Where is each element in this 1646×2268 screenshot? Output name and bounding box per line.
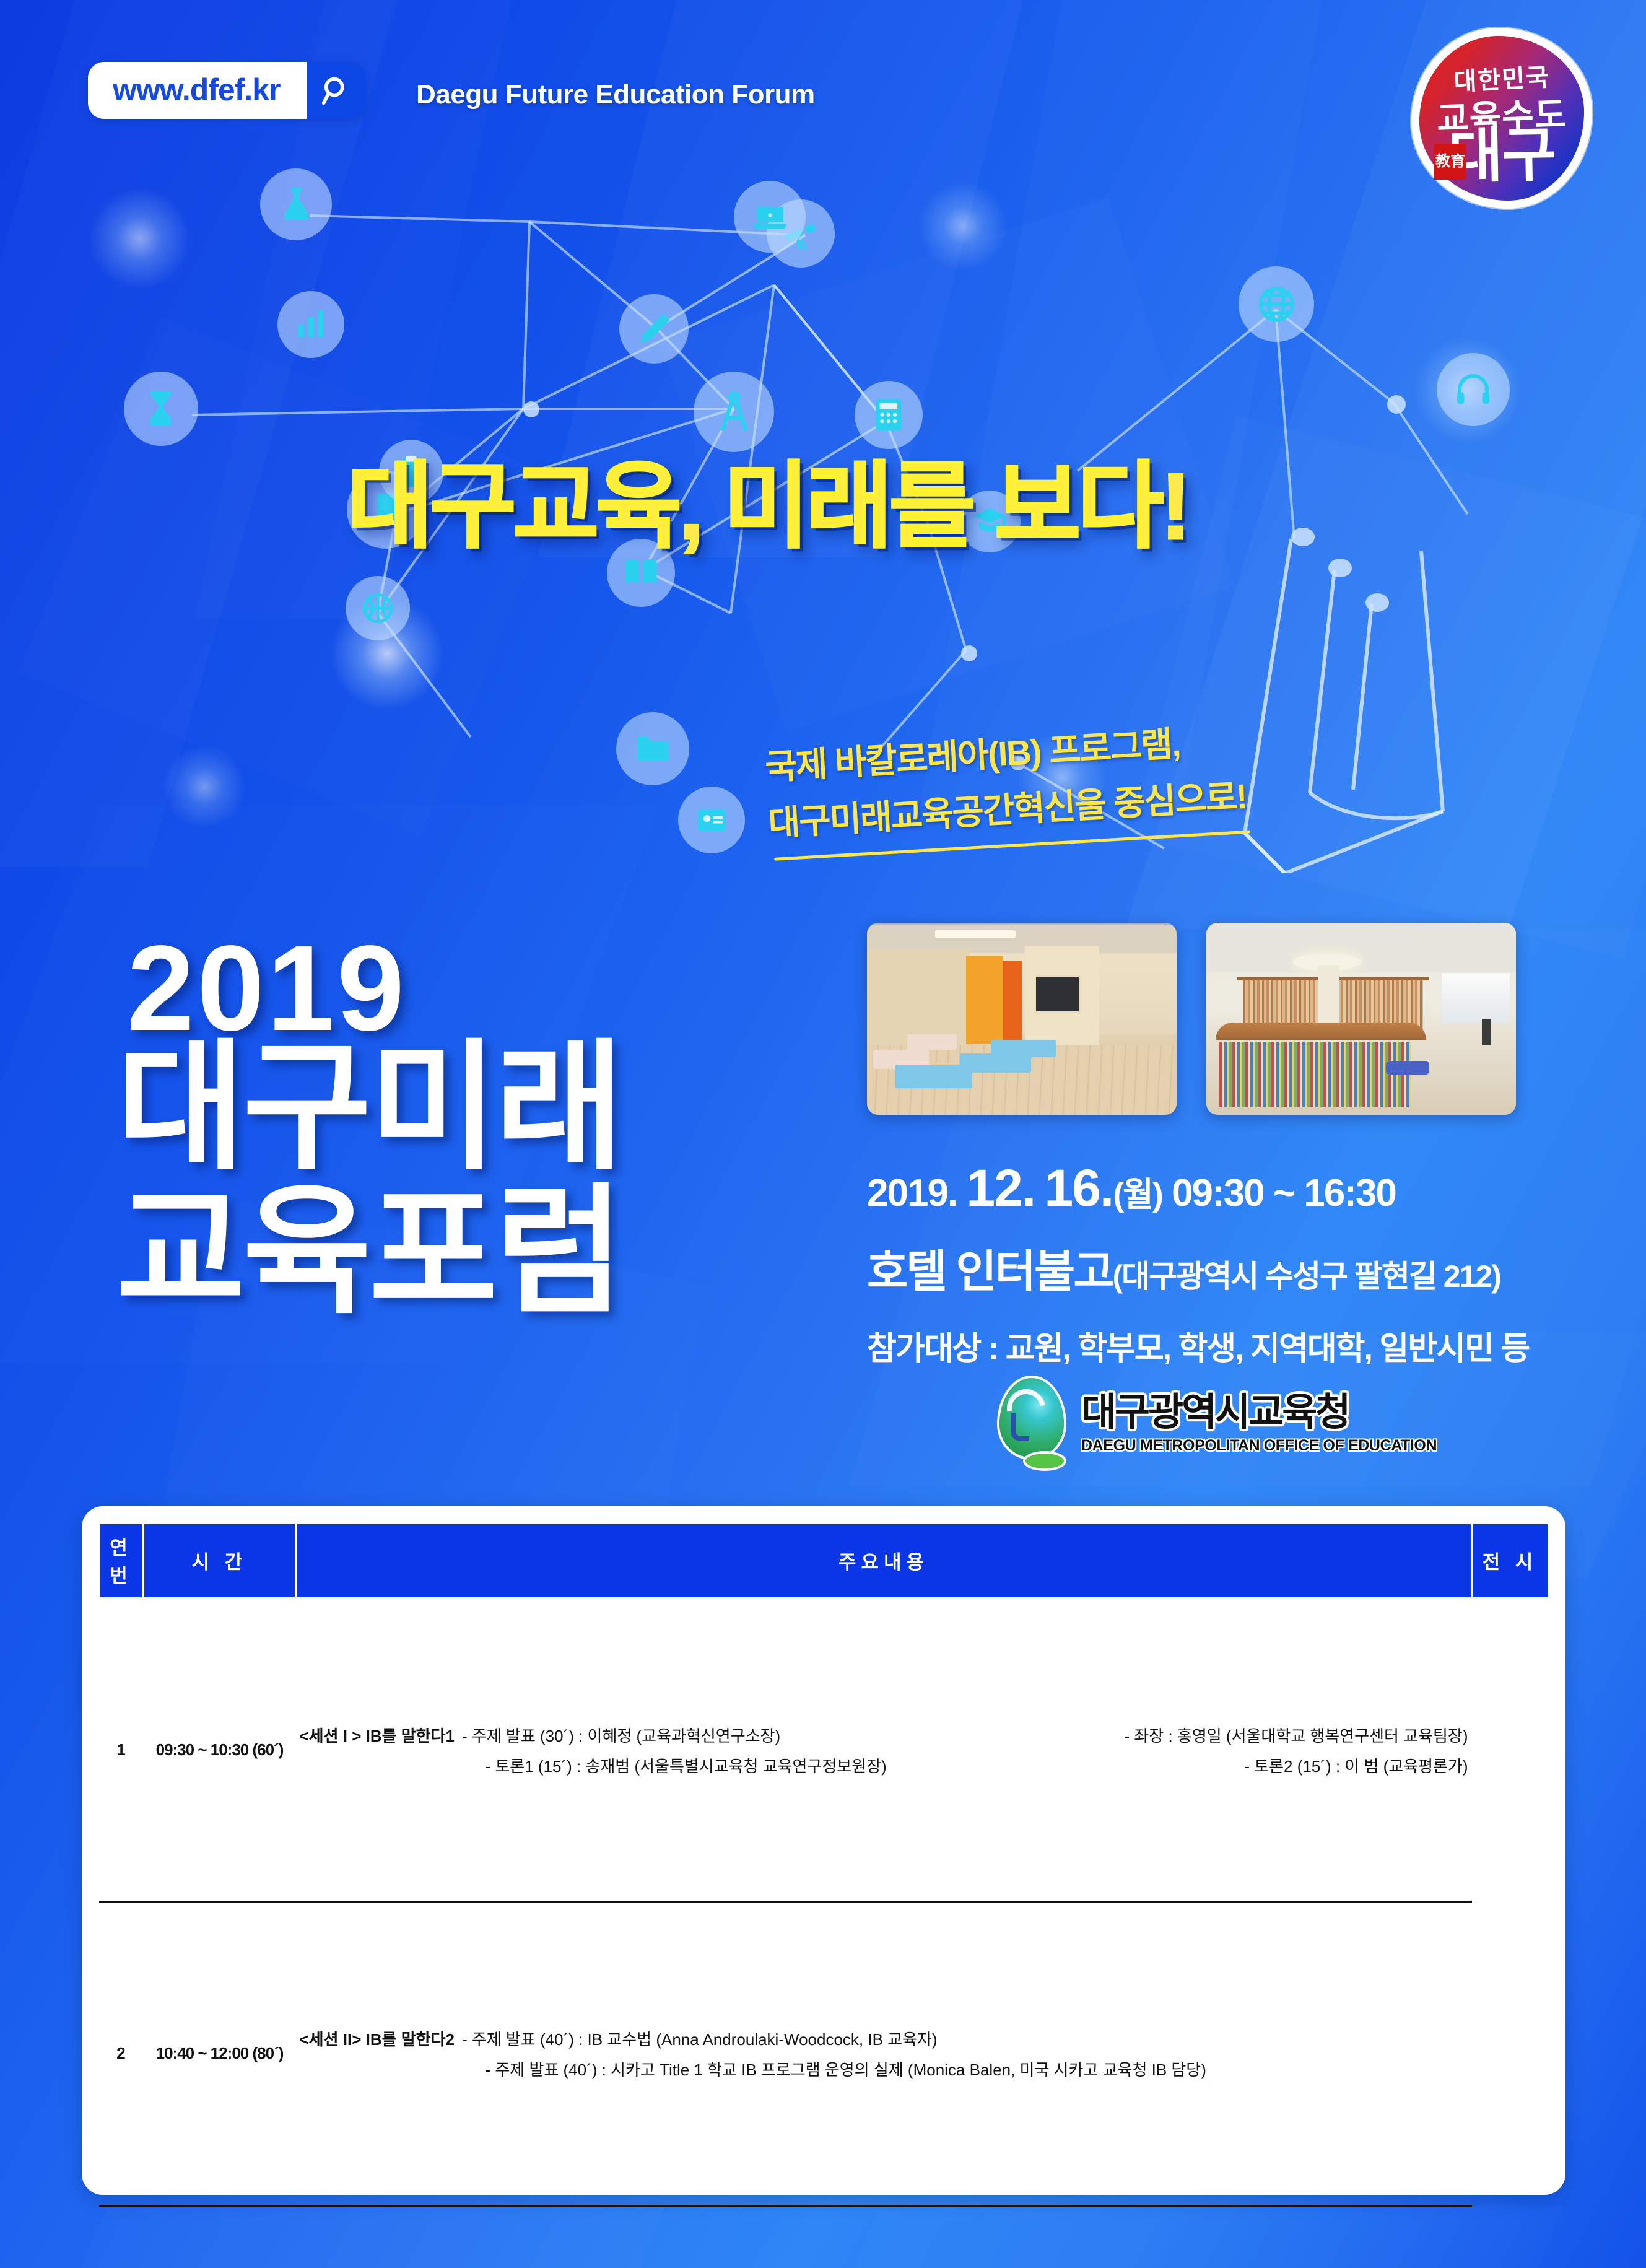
dmoe-symbol-icon <box>996 1378 1070 1470</box>
table-header-row: 연 번 시 간 주요내용 전 시 <box>99 1524 1549 1599</box>
event-title-line1: 대구미래 <box>116 1029 622 1185</box>
event-info: 2019. 12. 16.(월) 09:30 ~ 16:30 호텔 인터불고(대… <box>867 1159 1529 1369</box>
event-time-range: 09:30 ~ 16:30 <box>1172 1172 1396 1215</box>
th-content: 주요내용 <box>296 1524 1472 1599</box>
row-no: 1 <box>99 1599 144 1902</box>
hero-headline: 대구교육, 미래를 보다! <box>347 460 1188 554</box>
schedule-card: 연 번 시 간 주요내용 전 시 1 09:30 ~ 10:30 (60´) <… <box>82 1506 1565 2195</box>
poster-canvas: www.dfef.kr Daegu Future Education Forum… <box>0 0 1646 2268</box>
photo-classroom <box>867 923 1177 1115</box>
row-content: <세션 I > IB를 말한다1 - 주제 발표 (30´) : 이혜정 (교육… <box>296 1599 1472 1902</box>
th-no: 연 번 <box>99 1524 144 1599</box>
event-datetime: 2019. 12. 16.(월) 09:30 ~ 16:30 <box>867 1159 1529 1216</box>
event-venue: 호텔 인터불고(대구광역시 수성구 팔현길 212) <box>867 1235 1529 1300</box>
table-row: 1 09:30 ~ 10:30 (60´) <세션 I > IB를 말한다1 -… <box>99 1599 1549 1902</box>
laptop-wifi-icon <box>734 181 806 253</box>
network-dot <box>1291 528 1315 546</box>
th-exhibit: 전 시 <box>1472 1524 1549 1599</box>
site-url-text: www.dfef.kr <box>88 62 307 119</box>
network-dot <box>523 401 539 417</box>
row-content: <세션 II> IB를 말한다2 - 주제 발표 (40´) : IB 교수법 … <box>296 1902 1472 2205</box>
session-left: - 주제 발표 (30´) : 이혜정 (교육과혁신연구소장) <box>462 1724 780 1747</box>
th-time: 시 간 <box>144 1524 296 1599</box>
event-date-year: 2019. <box>867 1172 957 1215</box>
event-date-month: 12. <box>966 1159 1035 1217</box>
pencil-icon <box>619 294 689 364</box>
event-title-line2: 교육포럼 <box>116 1173 622 1330</box>
session-left: - 주제 발표 (40´) : IB 교수법 (Anna Androulaki-… <box>462 2027 938 2050</box>
schedule-table: 연 번 시 간 주요내용 전 시 1 09:30 ~ 10:30 (60´) <… <box>98 1522 1549 2268</box>
session-left: - 주제 발표 (40´) : 시카고 Title 1 학교 IB 프로그램 운… <box>486 2057 1206 2080</box>
photo-library <box>1206 923 1516 1115</box>
exhibit-cell: 대구미래교육공간 30개 학교사례 전시 <box>1472 1599 1549 2268</box>
pencil-outline-graphic <box>1245 539 1443 873</box>
session-lead: <세션 I > IB를 말한다1 <box>300 1724 455 1747</box>
id-card-icon <box>678 787 745 853</box>
hero-subline-2: 대구미래교육공간혁신을 중심으로! <box>767 777 1247 843</box>
table-row: 2 10:40 ~ 12:00 (80´) <세션 II> IB를 말한다2 -… <box>99 1902 1549 2205</box>
session-right: - 토론2 (15´) : 이 범 (교육평론가) <box>1244 1754 1468 1777</box>
organizer-name-kr: 대구광역시교육청 <box>1081 1394 1437 1432</box>
event-date-day: 16. <box>1044 1159 1113 1217</box>
site-url-badge[interactable]: www.dfef.kr <box>88 62 366 119</box>
row-time: 10:40 ~ 12:00 (80´) <box>144 1902 296 2205</box>
compass-icon <box>694 372 774 452</box>
event-weekday: (월) <box>1113 1176 1162 1213</box>
hourglass-icon <box>124 372 198 446</box>
network-dot <box>1328 559 1352 577</box>
row-time: 09:30 ~ 10:30 (60´) <box>144 1599 296 1902</box>
organizer-logo: 대구광역시교육청 DAEGU METROPOLITAN OFFICE OF ED… <box>996 1378 1437 1470</box>
table-row: 3 12:00 ~ 13:30 (90´) 점 심 식 사 <box>99 2205 1549 2268</box>
event-title: 대구미래 교육포럼 <box>116 1036 622 1324</box>
row-no: 3 <box>99 2205 144 2268</box>
globe-icon <box>1239 266 1314 342</box>
exhibit-vertical-text: 대구미래교육공간 30개 학교사례 전시 <box>1493 1608 1527 2268</box>
session-left: - 토론1 (15´) : 송재범 (서울특별시교육청 교육연구정보원장) <box>486 1754 887 1777</box>
chart-icon <box>277 291 344 358</box>
event-venue-name: 호텔 인터불고 <box>867 1247 1112 1297</box>
folder-icon <box>616 712 689 785</box>
session-right: - 좌장 : 홍영일 (서울대학교 행복연구센터 교육팀장) <box>1125 1724 1468 1747</box>
network-dot <box>1387 395 1406 414</box>
headphones-icon <box>1437 353 1510 426</box>
photo-gallery <box>867 923 1516 1115</box>
organizer-name-en: DAEGU METROPOLITAN OFFICE OF EDUCATION <box>1081 1437 1437 1455</box>
brand-name-en: Daegu Future Education Forum <box>416 79 815 110</box>
basketball-icon <box>346 576 410 640</box>
row-content: 점 심 식 사 <box>296 2205 1472 2268</box>
network-dot <box>961 645 977 661</box>
organizer-text: 대구광역시교육청 DAEGU METROPOLITAN OFFICE OF ED… <box>1081 1394 1437 1455</box>
event-venue-address: (대구광역시 수성구 팔현길 212) <box>1112 1259 1500 1294</box>
network-dot <box>1365 593 1389 612</box>
row-no: 2 <box>99 1902 144 2205</box>
session-lead: <세션 II> IB를 말한다2 <box>300 2027 455 2050</box>
calculator-icon <box>855 381 923 449</box>
flask-icon <box>260 168 332 240</box>
event-audience: 참가대상 : 교원, 학부모, 학생, 지역대학, 일반시민 등 <box>867 1322 1529 1369</box>
magnifier-icon[interactable] <box>307 62 366 119</box>
row-time: 12:00 ~ 13:30 (90´) <box>144 2205 296 2268</box>
